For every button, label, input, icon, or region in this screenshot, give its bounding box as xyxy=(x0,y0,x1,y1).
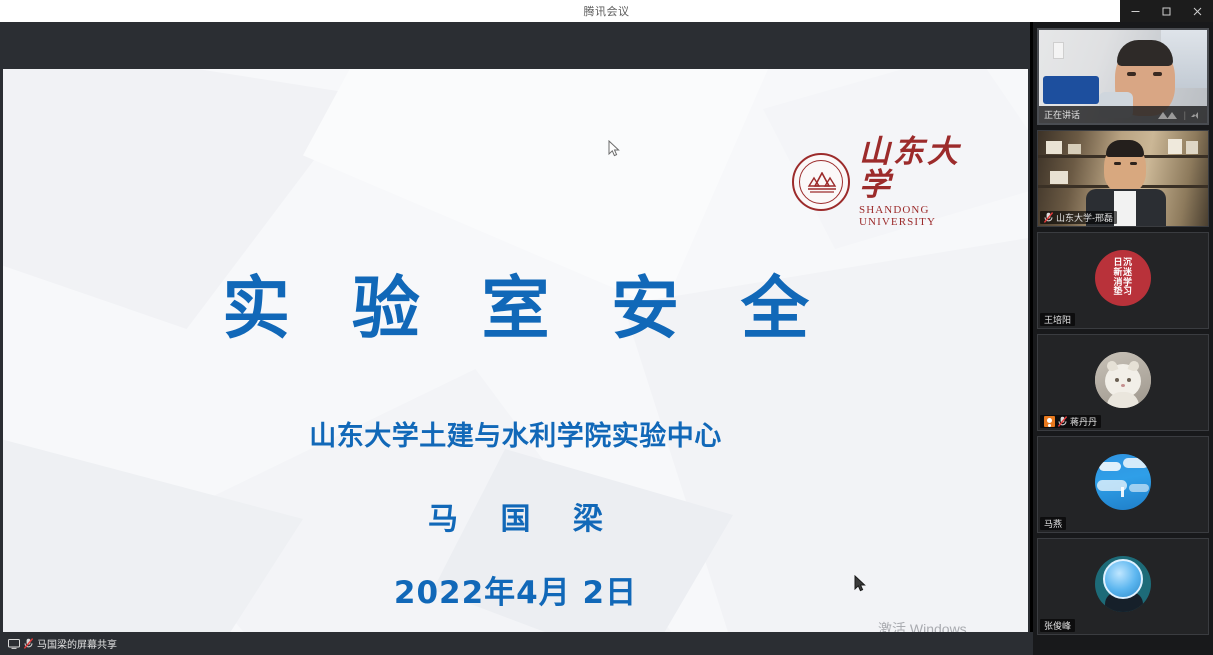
share-taskbar: 马国梁的屏幕共享 xyxy=(0,632,1033,655)
close-icon xyxy=(1192,6,1203,17)
video-book xyxy=(1046,141,1062,154)
university-logo: 山东大学 SHANDONG UNIVERSITY xyxy=(792,151,992,213)
participant-name: 蒋丹丹 xyxy=(1070,415,1097,428)
slide-title: 实 验 室 安 全 xyxy=(3,253,1028,352)
avatar xyxy=(1095,454,1151,510)
video-book xyxy=(1050,171,1068,184)
title-bar: 腾讯会议 xyxy=(0,0,1213,22)
video-shirt xyxy=(1114,191,1136,227)
logo-chinese-name: 山东大学 xyxy=(859,136,992,201)
video-book xyxy=(1068,144,1081,154)
maximize-icon xyxy=(1161,6,1172,17)
participant-name: 张俊峰 xyxy=(1044,619,1071,632)
mic-muted-icon xyxy=(1044,212,1053,223)
minimize-icon xyxy=(1130,6,1141,17)
minimize-button[interactable] xyxy=(1120,0,1151,22)
window-title: 腾讯会议 xyxy=(584,3,630,19)
host-badge-icon xyxy=(1044,416,1055,427)
video-scene-sofa xyxy=(1043,76,1099,104)
mic-muted-icon xyxy=(1058,416,1067,427)
cloud xyxy=(1099,462,1121,471)
participant-name: 王培阳 xyxy=(1044,313,1071,326)
tile-status-bar: 正在讲话 | xyxy=(1039,106,1207,123)
shared-screen-stage: 山东大学 SHANDONG UNIVERSITY 实 验 室 安 全 山东大学土… xyxy=(0,22,1030,632)
participant-tile[interactable]: 山东大学-邢磊 xyxy=(1037,130,1209,227)
slide-organization: 山东大学土建与水利学院实验中心 xyxy=(3,414,1028,453)
slide-author: 马 国 梁 xyxy=(3,494,1028,538)
participant-rail[interactable]: 正在讲话 | xyxy=(1033,22,1213,655)
participant-name-chip: 山东大学-邢磊 xyxy=(1040,211,1117,224)
cloud xyxy=(1123,458,1149,468)
badge-overlay-icon xyxy=(1103,559,1143,599)
participant-name-chip: 王培阳 xyxy=(1040,313,1075,326)
window-controls xyxy=(1120,0,1213,22)
cat-eye xyxy=(1127,378,1131,382)
video-eye xyxy=(1114,162,1121,165)
mouse-cursor xyxy=(854,575,866,593)
video-hair xyxy=(1117,40,1173,66)
volume-icon xyxy=(1190,110,1202,120)
participant-tile[interactable]: 日沉 新迷 消学 垫习 王培阳 xyxy=(1037,232,1209,329)
presentation-slide: 山东大学 SHANDONG UNIVERSITY 实 验 室 安 全 山东大学土… xyxy=(3,69,1028,647)
mountain-glyph-icon xyxy=(807,172,837,194)
screen-share-icon xyxy=(8,639,20,649)
participant-tile[interactable]: 蒋丹丹 xyxy=(1037,334,1209,431)
maximize-button[interactable] xyxy=(1151,0,1182,22)
cloud xyxy=(1129,484,1149,492)
participant-tile[interactable]: 张俊峰 xyxy=(1037,538,1209,635)
participant-name: 正在讲话 xyxy=(1044,108,1080,121)
video-eye xyxy=(1153,72,1162,76)
participant-name: 山东大学-邢磊 xyxy=(1056,211,1113,224)
video-hair xyxy=(1106,140,1144,157)
slide-date: 2022年4月 2日 xyxy=(3,567,1028,612)
video-eye xyxy=(1130,162,1137,165)
video-book xyxy=(1168,139,1182,154)
university-seal-icon xyxy=(792,153,850,211)
share-status-label: 马国梁的屏幕共享 xyxy=(37,636,117,651)
close-button[interactable] xyxy=(1182,0,1213,22)
video-scene-frame xyxy=(1053,42,1064,59)
participant-name-chip: 蒋丹丹 xyxy=(1040,415,1101,428)
participant-name: 马燕 xyxy=(1044,517,1062,530)
participant-tile[interactable]: 马燕 xyxy=(1037,436,1209,533)
mic-muted-icon xyxy=(24,638,33,649)
participant-tile[interactable]: 正在讲话 | xyxy=(1037,28,1209,125)
cat-nose xyxy=(1121,384,1125,387)
logo-english-name: SHANDONG UNIVERSITY xyxy=(859,204,992,228)
cat-eye xyxy=(1115,378,1119,382)
avatar: 日沉 新迷 消学 垫习 xyxy=(1095,250,1151,306)
avatar xyxy=(1095,352,1151,408)
participant-name-chip: 张俊峰 xyxy=(1040,619,1075,632)
participant-name-chip: 马燕 xyxy=(1040,517,1066,530)
logo-wordmark: 山东大学 SHANDONG UNIVERSITY xyxy=(859,136,992,227)
meeting-window: 腾讯会议 xyxy=(0,0,1213,655)
video-book xyxy=(1186,141,1198,154)
pole xyxy=(1121,487,1124,497)
mouse-cursor xyxy=(608,140,620,158)
avatar-text-line: 垫习 xyxy=(1113,287,1132,297)
video-eye xyxy=(1127,72,1136,76)
audio-meter-icon xyxy=(1158,110,1180,120)
share-status-chip[interactable]: 马国梁的屏幕共享 xyxy=(4,635,121,652)
